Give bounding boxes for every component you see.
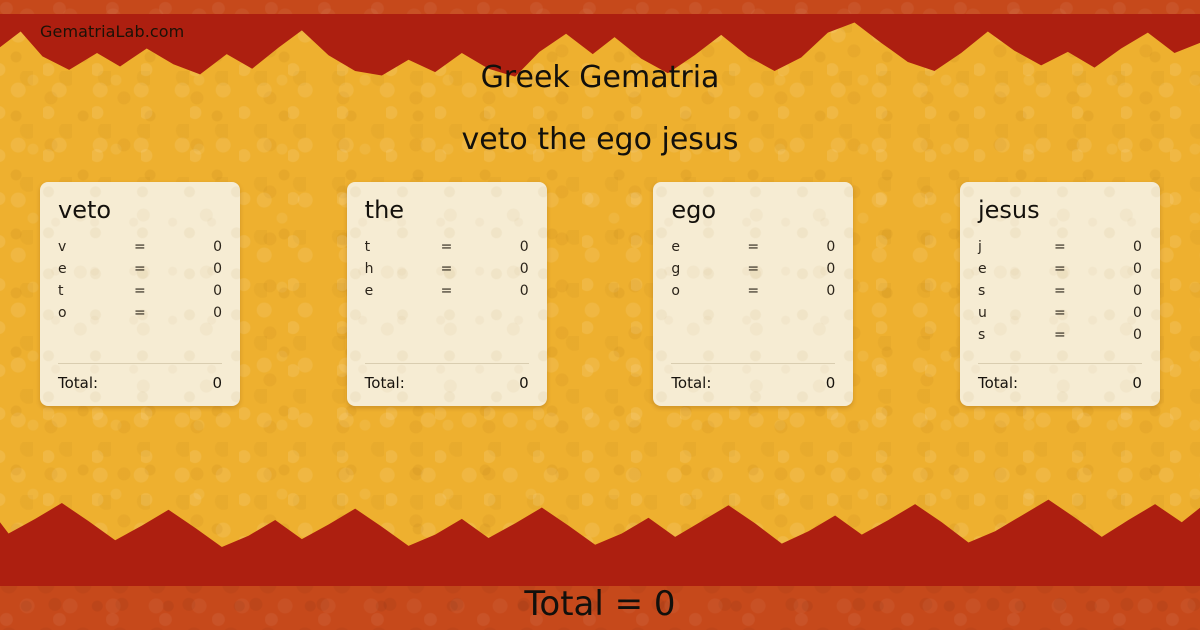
- grand-total: Total = 0: [0, 584, 1200, 624]
- card-divider: [58, 363, 222, 364]
- card-total-label: Total:: [978, 374, 1132, 392]
- letter-row: t=0: [58, 283, 222, 305]
- letter-row: e=0: [58, 261, 222, 283]
- card-total-row: Total:0: [978, 374, 1142, 392]
- equals-sign: =: [1054, 283, 1114, 299]
- card-total-label: Total:: [58, 374, 212, 392]
- card-divider: [671, 363, 835, 364]
- letter-value: 0: [194, 261, 222, 277]
- letter-label: u: [978, 305, 1054, 321]
- letter-row-list: j=0e=0s=0u=0s=0: [978, 239, 1142, 349]
- letter-value: 0: [1114, 327, 1142, 343]
- word-card-title: veto: [58, 198, 222, 223]
- letter-row: u=0: [978, 305, 1142, 327]
- equals-sign: =: [1054, 239, 1114, 255]
- word-card-title: ego: [671, 198, 835, 223]
- letter-value: 0: [501, 261, 529, 277]
- word-card: vetov=0e=0t=0o=0Total:0: [40, 182, 240, 406]
- word-card: thet=0h=0e=0Total:0: [347, 182, 547, 406]
- letter-row: s=0: [978, 327, 1142, 349]
- letter-value: 0: [1114, 261, 1142, 277]
- letter-label: h: [365, 261, 441, 277]
- word-card-title: jesus: [978, 198, 1142, 223]
- letter-label: o: [671, 283, 747, 299]
- letter-row: v=0: [58, 239, 222, 261]
- letter-row: e=0: [978, 261, 1142, 283]
- phrase-subtitle: veto the ego jesus: [0, 122, 1200, 157]
- letter-label: t: [365, 239, 441, 255]
- letter-label: e: [58, 261, 134, 277]
- card-total-label: Total:: [365, 374, 519, 392]
- letter-label: s: [978, 283, 1054, 299]
- equals-sign: =: [747, 261, 807, 277]
- equals-sign: =: [134, 239, 194, 255]
- card-total-value: 0: [212, 374, 222, 392]
- card-total-value: 0: [519, 374, 529, 392]
- letter-value: 0: [1114, 239, 1142, 255]
- letter-label: v: [58, 239, 134, 255]
- letter-label: s: [978, 327, 1054, 343]
- letter-row: e=0: [365, 283, 529, 305]
- equals-sign: =: [134, 283, 194, 299]
- letter-value: 0: [194, 283, 222, 299]
- equals-sign: =: [1054, 327, 1114, 343]
- letter-row: e=0: [671, 239, 835, 261]
- letter-row: j=0: [978, 239, 1142, 261]
- letter-row-list: t=0h=0e=0: [365, 239, 529, 305]
- letter-value: 0: [807, 283, 835, 299]
- letter-value: 0: [501, 239, 529, 255]
- letter-label: g: [671, 261, 747, 277]
- card-total-row: Total:0: [58, 374, 222, 392]
- gematria-result-page: GematriaLab.com Greek Gematria veto the …: [0, 0, 1200, 630]
- card-total-label: Total:: [671, 374, 825, 392]
- letter-row: s=0: [978, 283, 1142, 305]
- letter-label: t: [58, 283, 134, 299]
- equals-sign: =: [1054, 261, 1114, 277]
- equals-sign: =: [441, 283, 501, 299]
- word-card: egoe=0g=0o=0Total:0: [653, 182, 853, 406]
- word-card-title: the: [365, 198, 529, 223]
- letter-value: 0: [194, 305, 222, 321]
- card-divider: [978, 363, 1142, 364]
- letter-row: h=0: [365, 261, 529, 283]
- letter-row: o=0: [671, 283, 835, 305]
- word-card: jesusj=0e=0s=0u=0s=0Total:0: [960, 182, 1160, 406]
- letter-value: 0: [1114, 283, 1142, 299]
- letter-value: 0: [194, 239, 222, 255]
- letter-row: o=0: [58, 305, 222, 327]
- equals-sign: =: [441, 239, 501, 255]
- letter-value: 0: [1114, 305, 1142, 321]
- card-spacer: [58, 327, 222, 357]
- letter-row-list: e=0g=0o=0: [671, 239, 835, 305]
- equals-sign: =: [747, 239, 807, 255]
- site-logo[interactable]: GematriaLab.com: [40, 22, 184, 41]
- letter-label: e: [671, 239, 747, 255]
- card-total-value: 0: [1132, 374, 1142, 392]
- letter-value: 0: [501, 283, 529, 299]
- card-spacer: [978, 349, 1142, 357]
- letter-row-list: v=0e=0t=0o=0: [58, 239, 222, 327]
- letter-value: 0: [807, 239, 835, 255]
- equals-sign: =: [134, 261, 194, 277]
- page-title: Greek Gematria: [0, 60, 1200, 95]
- letter-label: o: [58, 305, 134, 321]
- letter-row: g=0: [671, 261, 835, 283]
- card-total-row: Total:0: [671, 374, 835, 392]
- card-spacer: [365, 305, 529, 357]
- card-total-row: Total:0: [365, 374, 529, 392]
- equals-sign: =: [441, 261, 501, 277]
- letter-label: e: [365, 283, 441, 299]
- card-divider: [365, 363, 529, 364]
- letter-value: 0: [807, 261, 835, 277]
- word-card-list: vetov=0e=0t=0o=0Total:0thet=0h=0e=0Total…: [40, 182, 1160, 406]
- letter-label: e: [978, 261, 1054, 277]
- letter-row: t=0: [365, 239, 529, 261]
- equals-sign: =: [134, 305, 194, 321]
- card-total-value: 0: [826, 374, 836, 392]
- equals-sign: =: [747, 283, 807, 299]
- equals-sign: =: [1054, 305, 1114, 321]
- card-spacer: [671, 305, 835, 357]
- letter-label: j: [978, 239, 1054, 255]
